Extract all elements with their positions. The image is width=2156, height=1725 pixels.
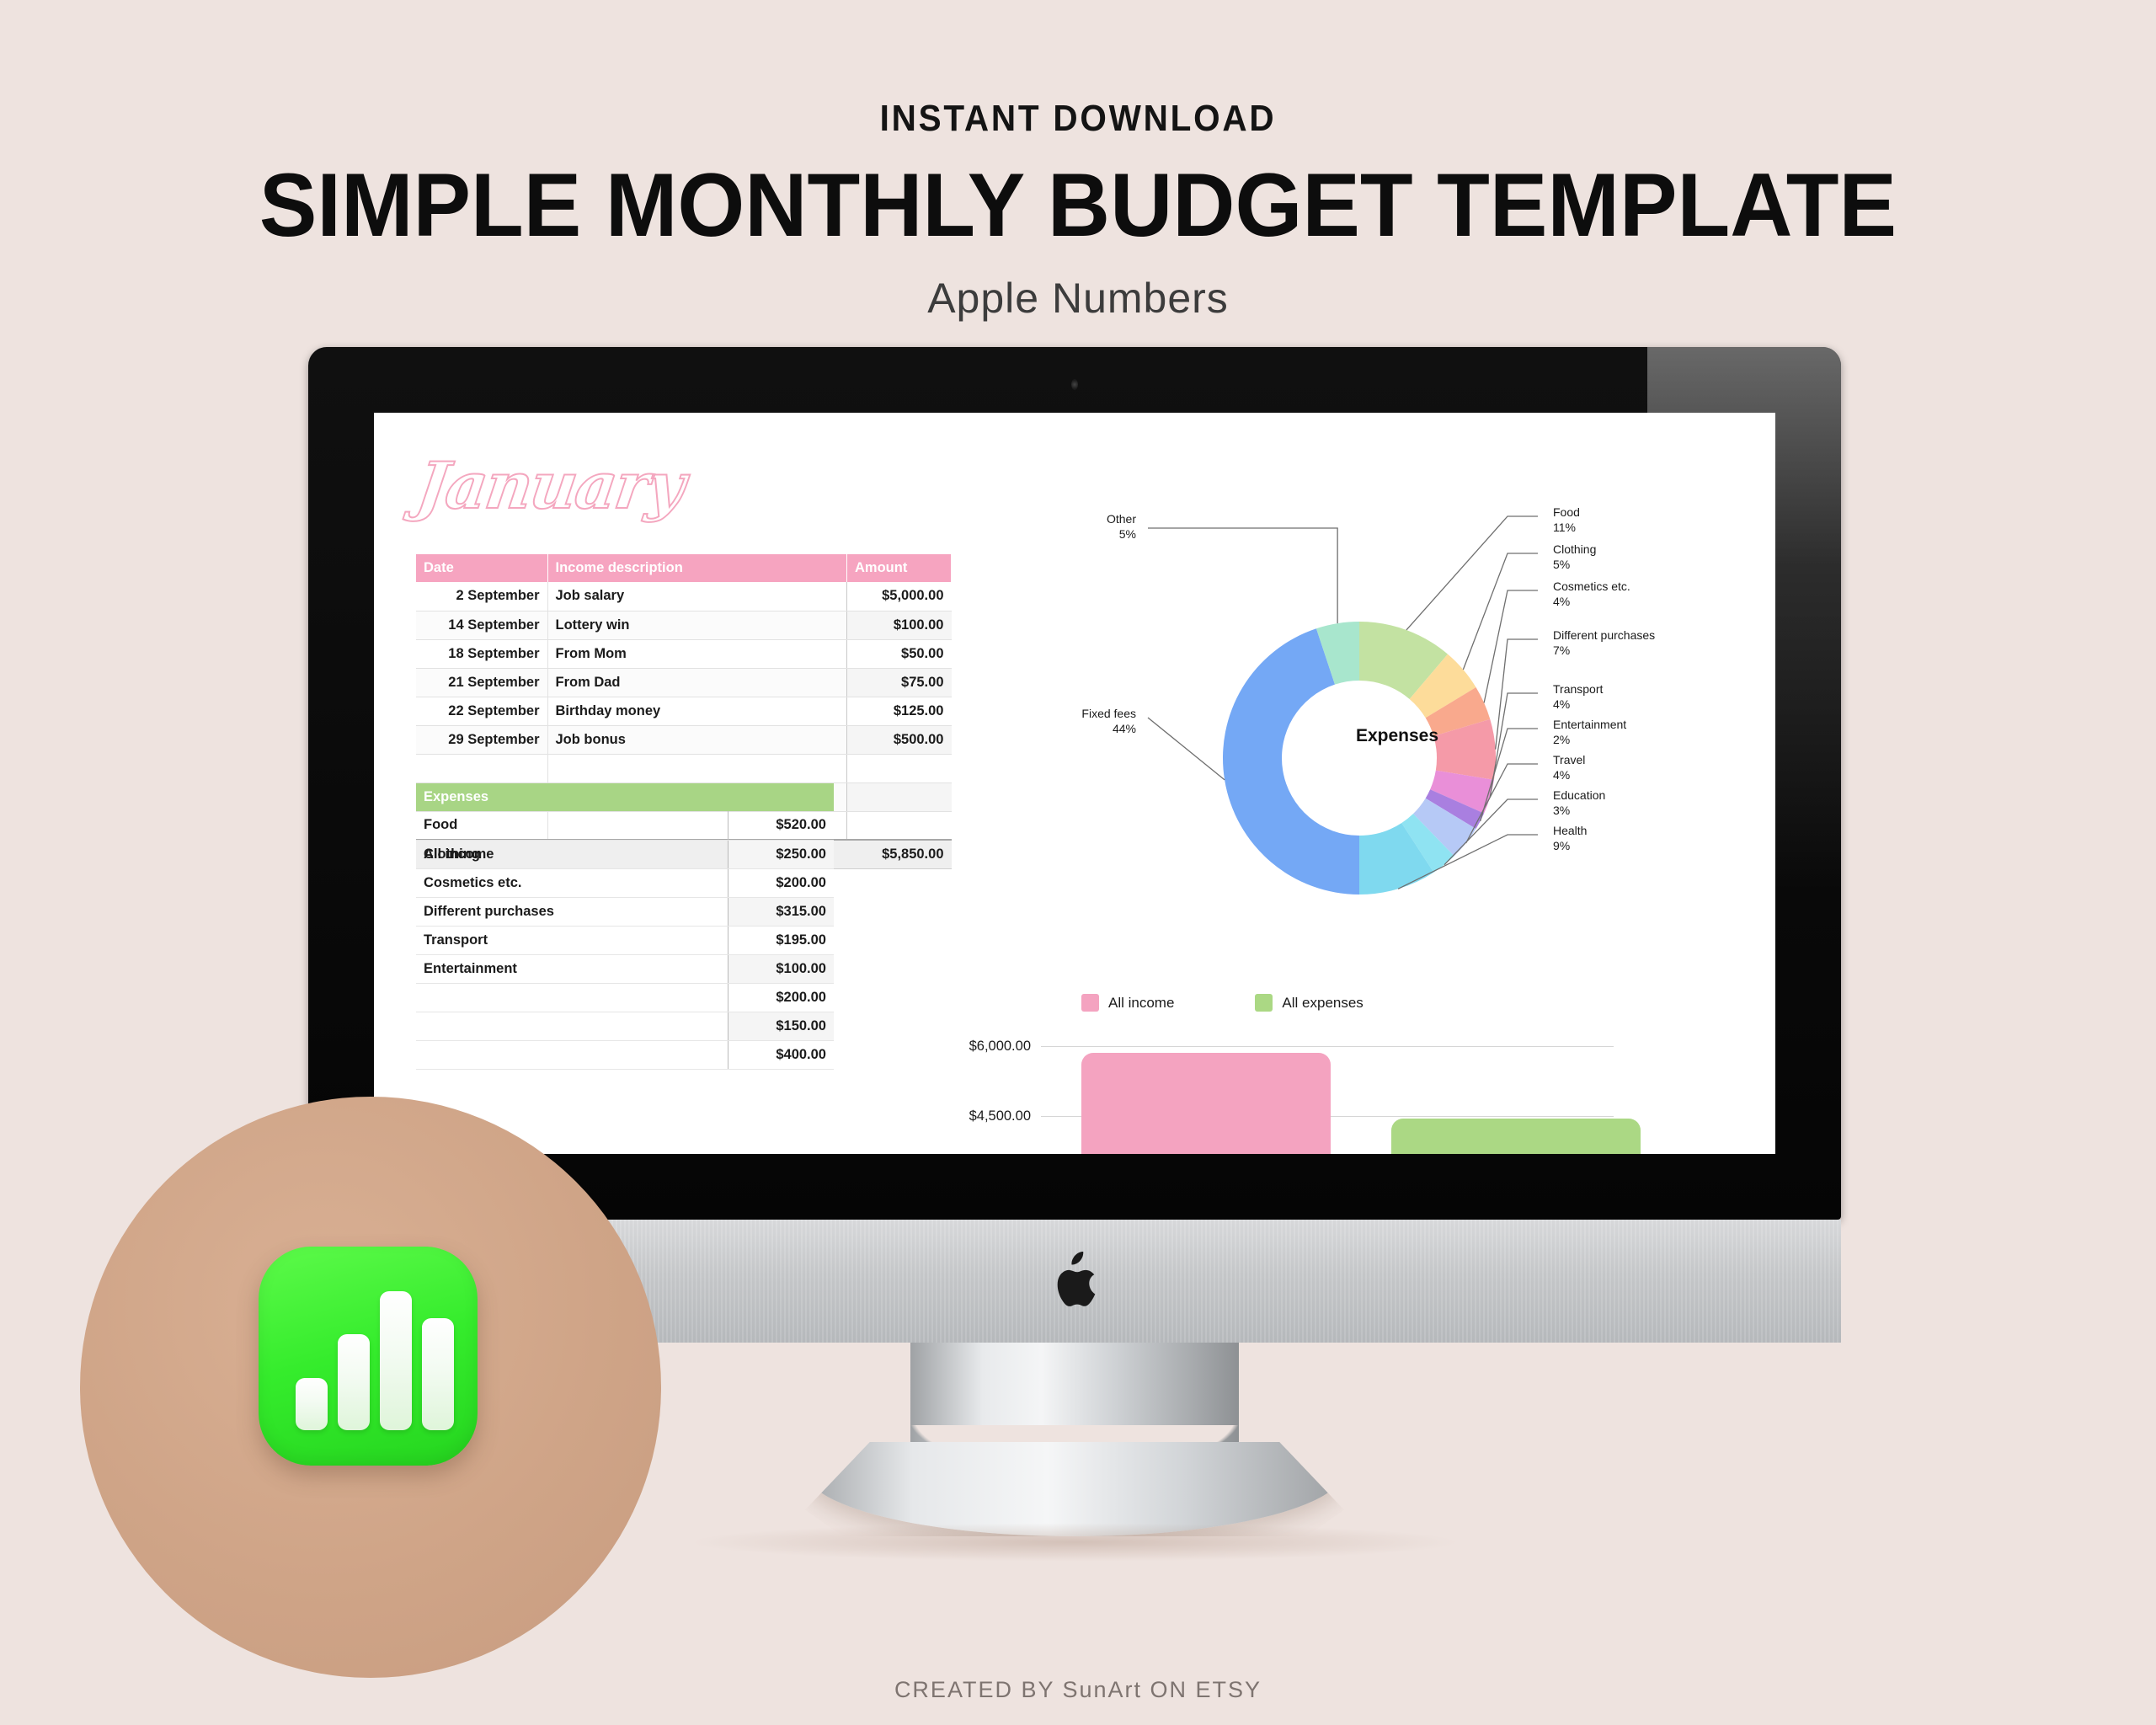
donut-label-text: 9% [1553,839,1570,852]
table-row[interactable]: 21 SeptemberFrom Dad$75.00 [416,668,952,697]
monitor-bezel: January Date Income description Amount 2… [308,347,1841,1220]
cell-amount[interactable]: $200.00 [728,868,834,897]
table-row[interactable] [416,754,952,782]
monitor-screen: January Date Income description Amount 2… [374,413,1775,1154]
table-row[interactable]: 29 SeptemberJob bonus$500.00 [416,725,952,754]
donut-label-text: Travel [1553,753,1585,766]
expenses-table[interactable]: Expenses Food$520.00 Clothing$250.00 Cos… [416,783,834,1070]
cell-amount[interactable]: $5,000.00 [847,582,952,611]
table-row[interactable]: Transport$195.00 [416,926,834,954]
donut-label-text: 3% [1553,804,1570,817]
donut-label-text: Cosmetics etc. [1553,579,1630,593]
donut-leader-line [1496,639,1538,750]
cell-category[interactable] [416,1012,728,1040]
cell-category[interactable]: Transport [416,926,728,954]
cell-date[interactable]: 2 September [416,582,547,611]
cell-category[interactable] [416,983,728,1012]
desk-shadow [687,1523,1462,1562]
bar-chart-legend: All income All expenses [1081,994,1364,1012]
cell-category[interactable]: Entertainment [416,954,728,983]
app-icon-badge [80,1097,661,1678]
donut-label-text: 7% [1553,644,1570,657]
donut-leader-line [1148,528,1337,623]
cell-description[interactable]: From Mom [547,639,847,668]
cell-amount[interactable]: $200.00 [728,983,834,1012]
cell-amount[interactable]: $250.00 [728,840,834,868]
cell-date[interactable]: 22 September [416,697,547,725]
cell-category[interactable]: Clothing [416,840,728,868]
apple-logo-icon [1051,1252,1098,1309]
axis-tick-lower: $4,500.00 [913,1108,1031,1124]
cell-category[interactable]: Different purchases [416,897,728,926]
donut-label-text: 4% [1553,595,1570,608]
webcam-icon [1071,379,1078,390]
donut-label-text: 5% [1553,558,1570,571]
cell-description[interactable]: Lottery win [547,611,847,639]
donut-leader-line [1148,718,1225,780]
table-row[interactable]: Entertainment$100.00 [416,954,834,983]
page-subtitle: Apple Numbers [0,274,2156,323]
numbers-app-icon [259,1247,478,1466]
legend-label: All income [1108,995,1174,1012]
table-row[interactable]: $150.00 [416,1012,834,1040]
table-row[interactable]: 18 SeptemberFrom Mom$50.00 [416,639,952,668]
donut-label-text: Fixed fees [1081,707,1136,720]
eyebrow-text: INSTANT DOWNLOAD [86,98,2069,140]
legend-label: All expenses [1282,995,1363,1012]
donut-center-label: Expenses [1321,726,1473,746]
cell-amount[interactable] [847,782,952,811]
cell-description[interactable]: Job salary [547,582,847,611]
table-row[interactable]: 22 SeptemberBirthday money$125.00 [416,697,952,725]
spreadsheet-canvas: January Date Income description Amount 2… [374,413,1775,1154]
cell-amount[interactable]: $195.00 [728,926,834,954]
axis-tick-upper: $6,000.00 [913,1039,1031,1055]
cell-date[interactable]: 21 September [416,668,547,697]
bar-all-income [1081,1053,1331,1154]
cell-category[interactable]: Cosmetics etc. [416,868,728,897]
cell-amount[interactable]: $315.00 [728,897,834,926]
donut-label-text: 4% [1553,768,1570,782]
table-row[interactable]: Clothing$250.00 [416,840,834,868]
cell-amount[interactable]: $500.00 [847,725,952,754]
legend-swatch-icon [1081,994,1099,1012]
month-heading: January [413,448,689,523]
donut-label-text: Different purchases [1553,628,1655,642]
donut-leader-line [1484,590,1538,702]
table-row[interactable]: 14 SeptemberLottery win$100.00 [416,611,952,639]
cell-description[interactable]: Job bonus [547,725,847,754]
cell-amount[interactable]: $125.00 [847,697,952,725]
donut-label-text: 44% [1113,722,1136,735]
donut-label-text: 5% [1119,527,1136,541]
expenses-donut-chart: Food11%Clothing5%Cosmetics etc.4%Differe… [963,505,1755,977]
cell-description[interactable]: From Dad [547,668,847,697]
income-vs-expenses-bar-chart: All income All expenses $6,000.00 $4,500… [913,994,1755,1154]
donut-label-text: Food [1553,505,1580,519]
expenses-col-header: Expenses [416,783,834,811]
cell-date[interactable]: 29 September [416,725,547,754]
legend-swatch-icon [1255,994,1273,1012]
donut-label-text: Education [1553,788,1605,802]
donut-leader-line [1490,693,1538,797]
total-value: $5,850.00 [847,840,952,869]
table-row[interactable]: Food$520.00 [416,811,834,840]
cell-amount[interactable] [847,754,952,782]
income-col-amount: Amount [847,554,952,582]
table-row[interactable]: $400.00 [416,1040,834,1069]
cell-amount[interactable] [847,811,952,840]
page-title: SIMPLE MONTHLY BUDGET TEMPLATE [43,158,2113,252]
cell-description[interactable] [547,754,847,782]
poster-header: INSTANT DOWNLOAD SIMPLE MONTHLY BUDGET T… [0,0,2156,323]
income-col-description: Income description [547,554,847,582]
cell-amount[interactable]: $520.00 [728,811,834,840]
donut-label-text: Transport [1553,682,1604,696]
cell-amount[interactable]: $100.00 [728,954,834,983]
legend-item-all-expenses: All expenses [1255,994,1363,1012]
cell-category[interactable]: Food [416,811,728,840]
income-table-header-row: Date Income description Amount [416,554,952,582]
donut-label-text: 4% [1553,697,1570,711]
cell-amount[interactable]: $100.00 [847,611,952,639]
table-row[interactable]: $200.00 [416,983,834,1012]
icon-bar-3 [380,1291,412,1430]
income-col-date: Date [416,554,547,582]
gridline-upper [1041,1046,1614,1047]
icon-bar-2 [338,1334,370,1430]
donut-label-text: Health [1553,824,1587,837]
donut-leader-line [1463,553,1538,670]
table-row[interactable]: Cosmetics etc.$200.00 [416,868,834,897]
cell-date[interactable] [416,754,547,782]
expenses-table-body[interactable]: Food$520.00 Clothing$250.00 Cosmetics et… [416,811,834,1069]
donut-label-text: 11% [1553,521,1576,534]
cell-category[interactable] [416,1040,728,1069]
cell-description[interactable]: Birthday money [547,697,847,725]
cell-amount[interactable]: $400.00 [728,1040,834,1069]
legend-item-all-income: All income [1081,994,1174,1012]
cell-amount[interactable]: $150.00 [728,1012,834,1040]
donut-label-text: Other [1107,512,1136,526]
table-row[interactable]: 2 SeptemberJob salary$5,000.00 [416,582,952,611]
cell-date[interactable]: 14 September [416,611,547,639]
donut-label-text: Clothing [1553,542,1596,556]
donut-label-text: 2% [1553,733,1570,746]
expenses-table-header-row: Expenses [416,783,834,811]
bar-all-expenses [1391,1119,1641,1154]
table-row[interactable]: Different purchases$315.00 [416,897,834,926]
footer-credit: CREATED BY SunArt ON ETSY [0,1677,2156,1703]
donut-label-text: Entertainment [1553,718,1626,731]
cell-date[interactable]: 18 September [416,639,547,668]
cell-amount[interactable]: $75.00 [847,668,952,697]
cell-amount[interactable]: $50.00 [847,639,952,668]
icon-bar-1 [296,1378,328,1430]
donut-leader-line [1406,516,1538,630]
icon-bar-4 [422,1318,454,1430]
